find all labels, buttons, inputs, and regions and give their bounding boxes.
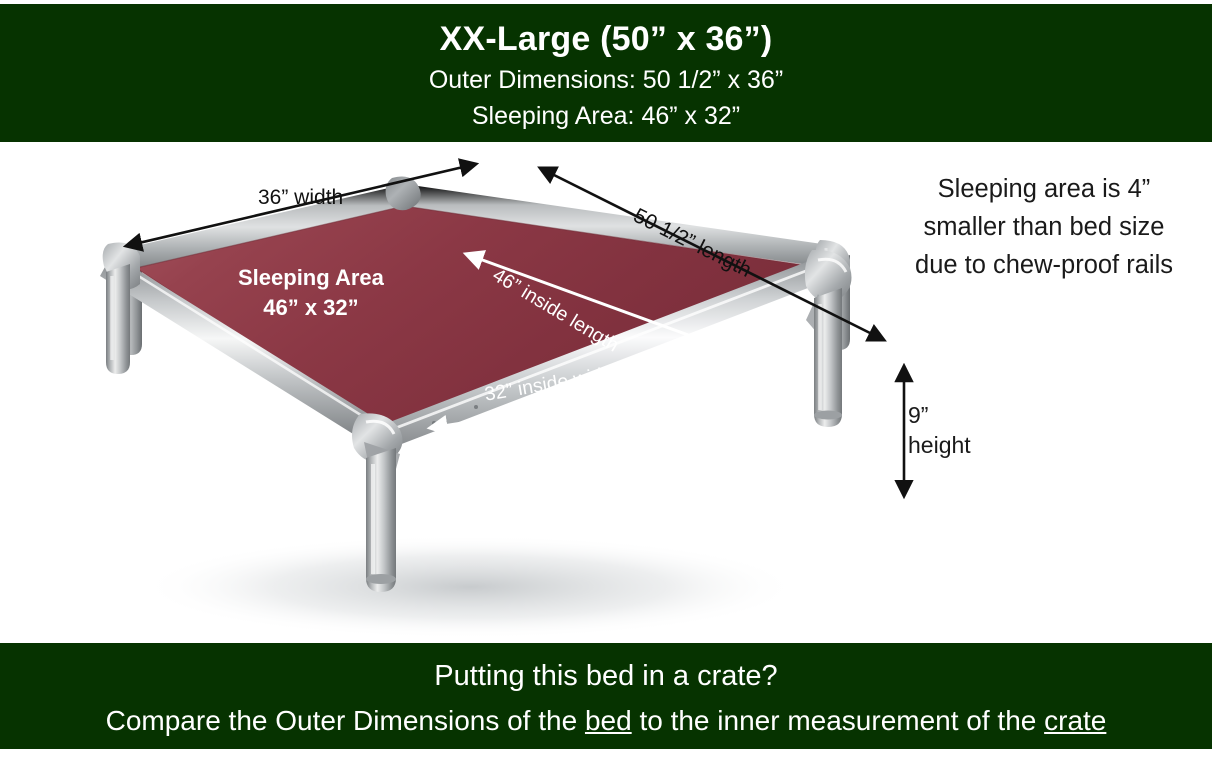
footer-compare-prefix: Compare the Outer Dimensions of the bbox=[106, 705, 585, 736]
height-word: height bbox=[908, 430, 971, 460]
footer-compare-middle: to the inner measurement of the bbox=[632, 705, 1044, 736]
label-sleeping-area: Sleeping Area 46” x 32” bbox=[238, 263, 384, 323]
header-sleeping-area: Sleeping Area: 46” x 32” bbox=[0, 98, 1212, 134]
footer-word-bed: bed bbox=[585, 705, 632, 736]
bed-illustration: 36” width 50 1/2” length 46” inside leng… bbox=[0, 142, 1212, 643]
height-value: 9” bbox=[908, 400, 971, 430]
header-banner: XX-Large (50” x 36”) Outer Dimensions: 5… bbox=[0, 4, 1212, 142]
label-outer-width: 36” width bbox=[258, 186, 343, 210]
side-note-line-2: smaller than bed size bbox=[884, 208, 1204, 246]
footer-compare: Compare the Outer Dimensions of the bed … bbox=[0, 699, 1212, 743]
page-title: XX-Large (50” x 36”) bbox=[0, 16, 1212, 62]
bed-leg-front-left bbox=[106, 264, 130, 374]
label-height: 9” height bbox=[908, 400, 971, 460]
header-outer-dimensions: Outer Dimensions: 50 1/2” x 36” bbox=[0, 62, 1212, 98]
side-note: Sleeping area is 4” smaller than bed siz… bbox=[884, 170, 1204, 284]
ground-shadow bbox=[140, 535, 800, 639]
side-note-line-1: Sleeping area is 4” bbox=[884, 170, 1204, 208]
sleeping-area-line-1: Sleeping Area bbox=[238, 263, 384, 293]
footer-banner: Putting this bed in a crate? Compare the… bbox=[0, 643, 1212, 749]
side-note-line-3: due to chew-proof rails bbox=[884, 246, 1204, 284]
footer-word-crate: crate bbox=[1044, 705, 1106, 736]
footer-question: Putting this bed in a crate? bbox=[0, 653, 1212, 699]
bed-leg-front-center bbox=[364, 442, 400, 592]
sleeping-area-line-2: 46” x 32” bbox=[238, 293, 384, 323]
